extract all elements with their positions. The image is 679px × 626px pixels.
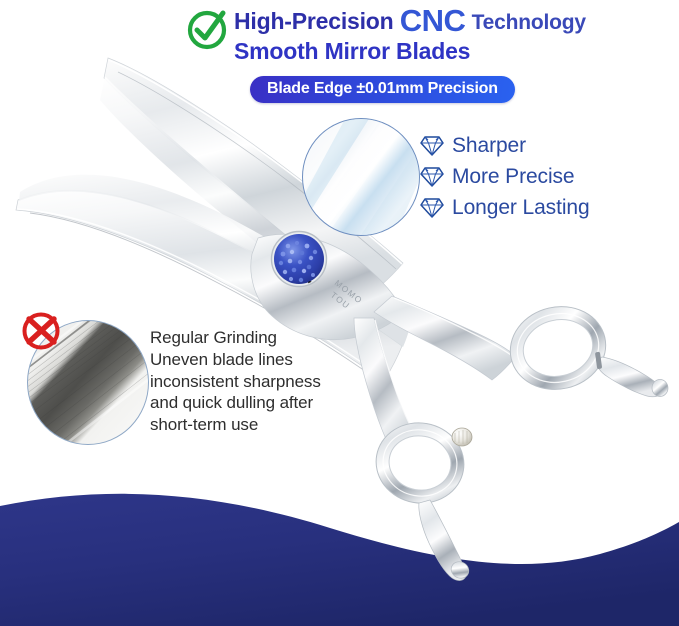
grinding-note-line-3: inconsistent sharpness (150, 371, 360, 393)
benefit-label: Longer Lasting (452, 196, 590, 220)
grinding-note-line-1: Regular Grinding (150, 327, 360, 349)
benefit-item-longer-lasting: Longer Lasting (420, 194, 590, 222)
mirror-surface-sheen (303, 119, 419, 235)
headline-part-cnc: CNC (400, 3, 466, 38)
headline-part-technology: Technology (472, 11, 586, 34)
product-infographic: MOMO TOU (0, 0, 679, 626)
benefits-list: Sharper More Precise (420, 132, 590, 225)
benefit-item-more-precise: More Precise (420, 163, 590, 191)
grinding-note-line-4: and quick dulling after (150, 392, 360, 414)
diamond-icon (420, 197, 444, 219)
red-x-circle-icon (18, 309, 64, 355)
precision-badge: Blade Edge ±0.01mm Precision (250, 76, 515, 103)
grinding-note-line-2: Uneven blade lines (150, 349, 360, 371)
headline-line-2: Smooth Mirror Blades (234, 38, 586, 64)
headline-block: High-Precision CNC Technology Smooth Mir… (186, 4, 676, 64)
diamond-icon (420, 166, 444, 188)
grinding-note-line-5: short-term use (150, 414, 360, 436)
benefit-label: Sharper (452, 134, 526, 158)
grinding-note: Regular Grinding Uneven blade lines inco… (150, 327, 360, 436)
green-check-circle-icon (186, 6, 230, 52)
mirror-blade-zoom-callout (302, 118, 420, 236)
headline-line-1: High-Precision CNC Technology (234, 4, 586, 39)
benefit-item-sharper: Sharper (420, 132, 590, 160)
headline-part-high-precision: High-Precision (234, 8, 394, 34)
benefit-label: More Precise (452, 165, 575, 189)
diamond-icon (420, 135, 444, 157)
